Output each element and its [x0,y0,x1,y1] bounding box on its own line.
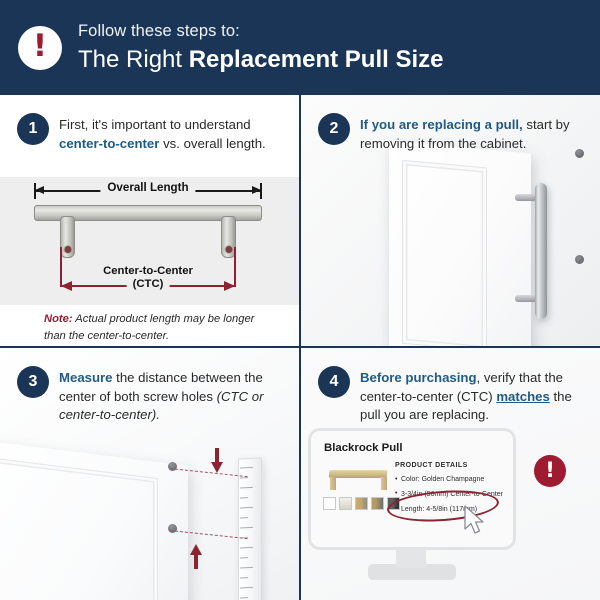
cabinet-door [389,141,531,346]
product-details-heading: PRODUCT DETAILS [395,462,468,469]
ctc-sublabel: (CTC) [127,278,170,290]
pull-post-left [60,216,75,258]
overall-arrow-right-icon [252,186,261,194]
screw-hole-lower [575,255,584,264]
step-1-head: 1 First, it's important to understand ce… [17,113,291,153]
cabinet-door-inset-frame-measure [0,457,158,600]
exclamation-glyph: ! [33,31,47,62]
step-1-number: 1 [17,113,49,145]
step-2-number: 2 [318,113,350,145]
overall-arrow-left-icon [35,186,44,194]
step-4-bold: Before purchasing [360,370,477,385]
ctc-arrow-left-icon [61,281,72,291]
title-bold: Replacement Pull Size [189,46,444,73]
step-3-head: 3 Measure the distance between the cente… [17,366,291,425]
grid-horizontal-divider [0,346,600,348]
header-banner: ! Follow these steps to: The Right Repla… [0,0,600,95]
diagram-note: Note: Actual product length may be longe… [44,311,266,346]
alert-exclamation-icon: ! [534,455,566,487]
overall-length-label: Overall Length [100,181,195,194]
ctc-label: Center-to-Center [103,265,193,277]
step-panel-3: 3 Measure the distance between the cente… [0,348,299,600]
ruler [238,457,262,600]
thumbnail-4[interactable] [371,497,384,510]
monitor-neck [396,548,426,568]
title-light: The Right [78,46,189,73]
product-image [323,465,395,495]
product-detail-color: Color: Golden Champagne [395,475,505,485]
step-4-underline: matches [496,389,550,404]
header-text-group: Follow these steps to: The Right Replace… [78,22,443,73]
step-2-head: 2 If you are replacing a pull, start by … [318,113,592,153]
step-4-text: Before purchasing, verify that the cente… [360,366,592,425]
step-2-text: If you are replacing a pull, start by re… [360,113,592,153]
step-4-number: 4 [318,366,350,398]
cabinet-door-measure [0,438,188,600]
product-title: Blackrock Pull [324,442,403,454]
product-pull-leg-right [381,477,387,490]
step-3-number: 3 [17,366,49,398]
measure-arrow-stem-up [194,554,197,569]
screw-hole-left [63,245,72,254]
cabinet-door-inset-frame [402,160,487,346]
step-1-text-after: vs. overall length. [159,136,265,151]
overall-length-dimension: Overall Length [34,183,262,199]
step-4-head: 4 Before purchasing, verify that the cen… [318,366,592,425]
product-pull-leg-left [330,477,336,490]
steps-grid: 1 First, it's important to understand ce… [0,95,600,600]
mouse-cursor-icon [463,505,487,540]
page-title: The Right Replacement Pull Size [78,46,443,74]
step-1-bold: center-to-center [59,136,159,151]
thumbnail-2[interactable] [339,497,352,510]
step-2-bold: If you are replacing a pull, [360,117,523,132]
pull-stem-lower [515,295,537,302]
infographic-page: ! Follow these steps to: The Right Repla… [0,0,600,600]
monitor-screen: Blackrock Pull PRODUCT DETAILS [308,428,516,550]
step-3-bold: Measure [59,370,113,385]
alert-exclamation-glyph: ! [545,460,555,481]
exclamation-icon: ! [18,26,62,70]
product-pull-bar [329,470,388,478]
header-kicker: Follow these steps to: [78,22,443,42]
step-panel-4: Blackrock Pull PRODUCT DETAILS [301,348,600,600]
note-label: Note: [44,313,73,325]
measure-arrow-down-icon [211,462,223,473]
screw-hole-right [224,245,233,254]
pull-stem-upper [515,194,537,201]
ctc-tick-left [60,247,62,285]
measure-arrow-up-icon [190,544,202,555]
bar-pull-illustration [34,205,262,267]
ctc-dimension: Center-to-Center (CTC) [60,269,236,299]
measure-arrow-stem-down [215,448,218,463]
pull-diagram: Overall Length Center-to-Center (CTC) [0,177,299,305]
step-panel-2: 2 If you are replacing a pull, start by … [301,95,600,346]
step-1-text: First, it's important to understand cent… [59,113,291,153]
thumbnail-1[interactable] [323,497,336,510]
thumbnail-3[interactable] [355,497,368,510]
step-3-text: Measure the distance between the center … [59,366,291,425]
step-1-text-before: First, it's important to understand [59,117,251,132]
installed-bar-pull [535,183,547,319]
note-body: Actual product length may be longer than… [44,313,254,342]
step-panel-1: 1 First, it's important to understand ce… [0,95,299,346]
ctc-tick-right [234,247,236,285]
ctc-arrow-right-icon [224,281,235,291]
